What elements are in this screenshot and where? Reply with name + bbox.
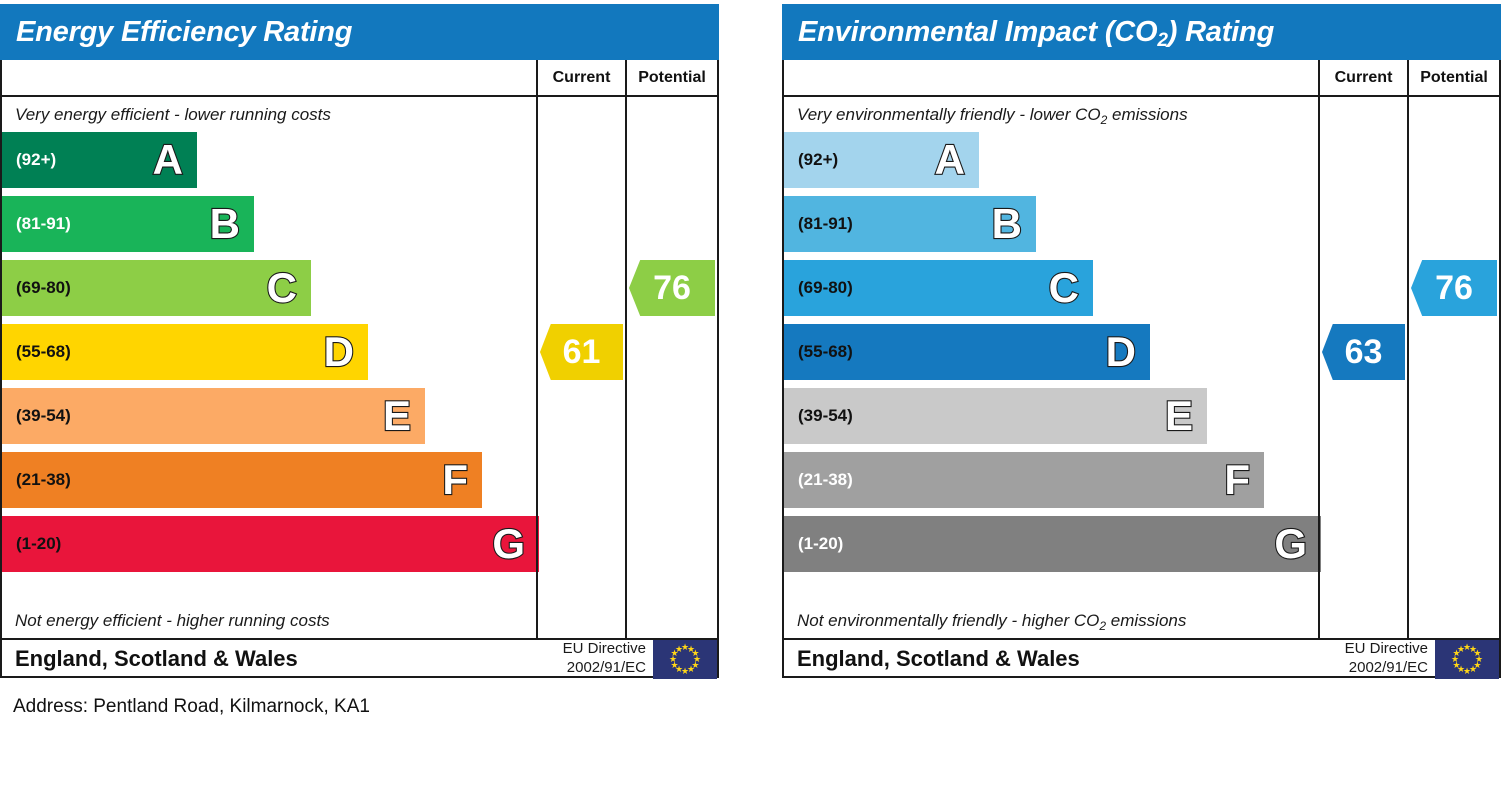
environmental-header-row: Current Potential: [784, 60, 1499, 97]
eu-flag-icon: ★★★★★★★★★★★★: [1435, 640, 1499, 679]
environmental-column-header-potential: Potential: [1407, 60, 1499, 95]
energy-footer-directive: EU Directive 2002/91/EC: [563, 640, 653, 677]
energy-band-g: (1-20)G: [2, 516, 539, 572]
environmental-title-suffix: ) Rating: [1168, 16, 1274, 48]
environmental-grid: Current Potential Very environmentally f…: [782, 60, 1501, 678]
energy-band-c: (69-80)C: [2, 260, 311, 316]
environmental-directive-line1: EU Directive: [1345, 640, 1428, 657]
energy-band-b: (81-91)B: [2, 196, 254, 252]
environmental-top-caption: Very environmentally friendly - lower CO…: [784, 97, 1318, 132]
environmental-current-rating-marker: 63: [1322, 324, 1405, 380]
energy-bottom-caption: Not energy efficient - higher running co…: [2, 603, 536, 638]
environmental-band-b: (81-91)B: [784, 196, 1036, 252]
environmental-bottom-caption-prefix: Not environmentally friendly - higher CO: [797, 611, 1099, 630]
energy-column-header-potential: Potential: [625, 60, 717, 95]
energy-top-caption: Very energy efficient - lower running co…: [2, 97, 536, 132]
environmental-band-letter-d: D: [1106, 331, 1136, 373]
environmental-band-e: (39-54)E: [784, 388, 1207, 444]
energy-band-range-a: (92+): [2, 150, 56, 170]
environmental-band-letter-f: F: [1224, 459, 1250, 501]
energy-band-letter-g: G: [492, 523, 525, 565]
environmental-footer-row: England, Scotland & Wales EU Directive 2…: [784, 638, 1499, 677]
energy-efficiency-chart: Energy Efficiency Rating Current Potenti…: [0, 4, 719, 678]
environmental-body-row: Very environmentally friendly - lower CO…: [784, 97, 1499, 638]
environmental-band-range-c: (69-80): [784, 278, 853, 298]
energy-band-a: (92+)A: [2, 132, 197, 188]
energy-potential-rating-marker: 76: [629, 260, 715, 316]
energy-column-header-current: Current: [536, 60, 625, 95]
environmental-band-a: (92+)A: [784, 132, 979, 188]
environmental-band-range-d: (55-68): [784, 342, 853, 362]
environmental-top-caption-suffix: emissions: [1107, 105, 1187, 124]
environmental-band-letter-g: G: [1274, 523, 1307, 565]
environmental-band-range-g: (1-20): [784, 534, 843, 554]
energy-band-d: (55-68)D: [2, 324, 368, 380]
environmental-band-range-e: (39-54): [784, 406, 853, 426]
energy-band-letter-e: E: [383, 395, 411, 437]
environmental-directive-line2: 2002/91/EC: [1349, 659, 1428, 676]
environmental-bottom-caption: Not environmentally friendly - higher CO…: [784, 603, 1318, 638]
environmental-band-letter-e: E: [1165, 395, 1193, 437]
energy-bands-column: Very energy efficient - lower running co…: [2, 97, 536, 638]
environmental-potential-column: 76: [1407, 97, 1499, 638]
environmental-top-caption-prefix: Very environmentally friendly - lower CO: [797, 105, 1101, 124]
energy-band-range-c: (69-80): [2, 278, 71, 298]
environmental-band-range-b: (81-91): [784, 214, 853, 234]
energy-current-rating-marker: 61: [540, 324, 623, 380]
environmental-header-spacer: [784, 60, 1318, 95]
energy-directive-line1: EU Directive: [563, 640, 646, 657]
energy-footer-row: England, Scotland & Wales EU Directive 2…: [2, 638, 717, 677]
epc-chart-page: Energy Efficiency Rating Current Potenti…: [0, 0, 1501, 805]
environmental-bottom-caption-subscript: 2: [1099, 619, 1106, 633]
environmental-band-list: (92+)A(81-91)B(69-80)C(55-68)D(39-54)E(2…: [784, 132, 1318, 603]
environmental-band-letter-b: B: [992, 203, 1022, 245]
environmental-current-column: 63: [1318, 97, 1407, 638]
property-address: Address: Pentland Road, Kilmarnock, KA1: [13, 696, 370, 718]
energy-band-list: (92+)A(81-91)B(69-80)C(55-68)D(39-54)E(2…: [2, 132, 536, 603]
energy-band-range-f: (21-38): [2, 470, 71, 490]
environmental-footer-directive: EU Directive 2002/91/EC: [1345, 640, 1435, 677]
environmental-footer-region: England, Scotland & Wales: [784, 640, 1345, 677]
energy-band-range-e: (39-54): [2, 406, 71, 426]
energy-directive-line2: 2002/91/EC: [567, 659, 646, 676]
energy-band-letter-f: F: [442, 459, 468, 501]
energy-potential-column: 76: [625, 97, 717, 638]
eu-flag-icon: ★★★★★★★★★★★★: [653, 640, 717, 679]
environmental-bottom-caption-suffix: emissions: [1106, 611, 1186, 630]
eu-flag-star: ★: [1457, 645, 1466, 654]
environmental-impact-chart: Environmental Impact (CO2) Rating Curren…: [782, 4, 1501, 678]
energy-header-spacer: [2, 60, 536, 95]
environmental-band-f: (21-38)F: [784, 452, 1264, 508]
environmental-band-range-a: (92+): [784, 150, 838, 170]
energy-current-column: 61: [536, 97, 625, 638]
energy-chart-title: Energy Efficiency Rating: [0, 4, 719, 60]
energy-grid: Current Potential Very energy efficient …: [0, 60, 719, 678]
energy-band-e: (39-54)E: [2, 388, 425, 444]
environmental-band-g: (1-20)G: [784, 516, 1321, 572]
energy-band-letter-c: C: [267, 267, 297, 309]
environmental-band-letter-a: A: [935, 139, 965, 181]
energy-band-range-g: (1-20): [2, 534, 61, 554]
energy-band-f: (21-38)F: [2, 452, 482, 508]
energy-footer-region: England, Scotland & Wales: [2, 640, 563, 677]
environmental-chart-title: Environmental Impact (CO2) Rating: [782, 4, 1501, 60]
environmental-bands-column: Very environmentally friendly - lower CO…: [784, 97, 1318, 638]
environmental-potential-rating-marker: 76: [1411, 260, 1497, 316]
environmental-top-caption-subscript: 2: [1101, 113, 1108, 127]
environmental-band-letter-c: C: [1049, 267, 1079, 309]
environmental-band-d: (55-68)D: [784, 324, 1150, 380]
energy-band-range-b: (81-91): [2, 214, 71, 234]
energy-band-letter-a: A: [153, 139, 183, 181]
environmental-title-prefix: Environmental Impact (CO: [798, 16, 1157, 48]
energy-body-row: Very energy efficient - lower running co…: [2, 97, 717, 638]
energy-header-row: Current Potential: [2, 60, 717, 97]
environmental-band-c: (69-80)C: [784, 260, 1093, 316]
energy-band-range-d: (55-68): [2, 342, 71, 362]
environmental-column-header-current: Current: [1318, 60, 1407, 95]
environmental-title-subscript: 2: [1157, 30, 1167, 51]
eu-flag-star: ★: [675, 645, 684, 654]
energy-band-letter-d: D: [324, 331, 354, 373]
energy-band-letter-b: B: [210, 203, 240, 245]
environmental-band-range-f: (21-38): [784, 470, 853, 490]
